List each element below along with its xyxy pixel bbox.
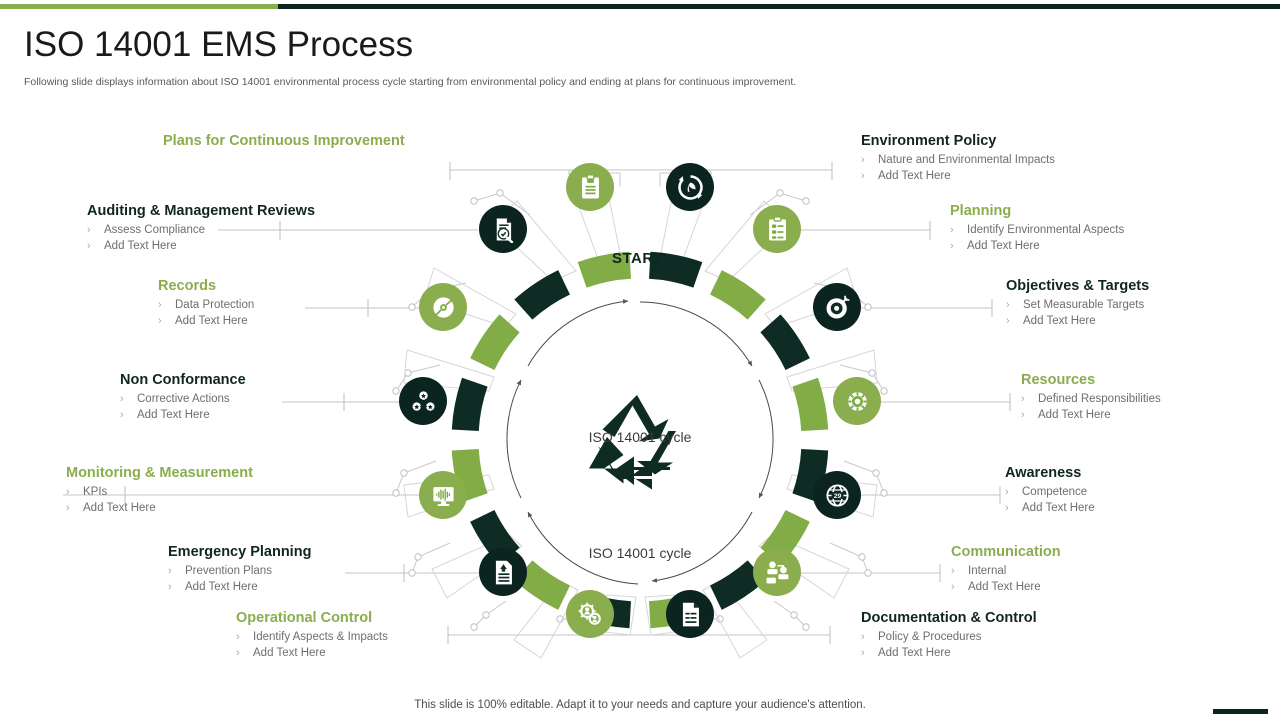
ring-segment — [482, 323, 509, 364]
top-accent-dark-segment — [278, 4, 1280, 9]
bullet-text: Policy & Procedures — [878, 631, 982, 643]
bullet-item: ›Policy & Procedures — [861, 629, 1037, 645]
bullet-item: ›Add Text Here — [120, 407, 246, 423]
step-icon-operational-control[interactable] — [566, 590, 614, 638]
step-title-objectives-targets: Objectives & Targets — [1006, 278, 1149, 295]
ring-segment — [523, 570, 564, 597]
chevron-right-icon: › — [168, 579, 172, 595]
emergency-document-icon — [490, 559, 517, 586]
bullet-text: Identify Aspects & Impacts — [253, 631, 388, 643]
bullet-item: ›Add Text Here — [1021, 407, 1161, 423]
step-block-plans-continuous-improvement: Plans for Continuous Improvement — [163, 133, 405, 152]
step-block-emergency-planning: Emergency Planning›Prevention Plans›Add … — [168, 544, 311, 595]
chevron-right-icon: › — [861, 152, 865, 168]
monitor-wave-icon — [430, 482, 457, 509]
bullet-text: Defined Responsibilities — [1038, 393, 1161, 405]
bullet-text: Add Text Here — [175, 315, 248, 327]
page-subtitle: Following slide displays information abo… — [24, 76, 796, 88]
step-title-plans-continuous-improvement: Plans for Continuous Improvement — [163, 133, 405, 150]
chevron-right-icon: › — [951, 579, 955, 595]
ring-caption-bottom: ISO 14001 cycle — [490, 545, 790, 561]
step-title-awareness: Awareness — [1005, 465, 1095, 482]
ring-segment — [716, 282, 757, 309]
chevron-right-icon: › — [1006, 297, 1010, 313]
step-title-monitoring-measurement: Monitoring & Measurement — [66, 465, 253, 482]
chevron-right-icon: › — [950, 238, 954, 254]
step-icon-records[interactable] — [419, 283, 467, 331]
bullet-item: ›Add Text Here — [66, 500, 253, 516]
step-title-planning: Planning — [950, 203, 1124, 220]
bullet-item: ›Add Text Here — [950, 238, 1124, 254]
bullet-text: Identify Environmental Aspects — [967, 224, 1124, 236]
footer-note: This slide is 100% editable. Adapt it to… — [0, 699, 1280, 711]
bullet-item: ›Add Text Here — [236, 645, 388, 661]
bullet-text: Assess Compliance — [104, 224, 205, 236]
step-bullets-documentation-control: ›Policy & Procedures›Add Text Here — [861, 629, 1037, 661]
chevron-right-icon: › — [120, 407, 124, 423]
bullet-text: Add Text Here — [878, 170, 951, 182]
chevron-right-icon: › — [1021, 407, 1025, 423]
bullet-text: Add Text Here — [253, 647, 326, 659]
chevron-right-icon: › — [158, 313, 162, 329]
chevron-right-icon: › — [951, 563, 955, 579]
clipboard-check-icon — [577, 174, 604, 201]
chevron-right-icon: › — [158, 297, 162, 313]
ring-segment — [523, 282, 564, 309]
bullet-item: ›Internal — [951, 563, 1061, 579]
bullet-item: ›KPIs — [66, 484, 253, 500]
step-icon-resources[interactable] — [833, 377, 881, 425]
chevron-right-icon: › — [861, 645, 865, 661]
step-title-environment-policy: Environment Policy — [861, 133, 1055, 150]
start-label: START — [612, 250, 663, 267]
bullet-item: ›Add Text Here — [861, 168, 1055, 184]
bullet-item: ›Data Protection — [158, 297, 254, 313]
chevron-right-icon: › — [236, 629, 240, 645]
step-title-operational-control: Operational Control — [236, 610, 388, 627]
top-accent-green-segment — [0, 4, 278, 9]
bullet-item: ›Nature and Environmental Impacts — [861, 152, 1055, 168]
bullet-text: Add Text Here — [185, 581, 258, 593]
chevron-right-icon: › — [236, 645, 240, 661]
bullet-text: Add Text Here — [1038, 409, 1111, 421]
chevron-right-icon: › — [87, 238, 91, 254]
step-icon-documentation-control[interactable] — [666, 590, 714, 638]
nodes-icon — [410, 388, 437, 415]
target-icon — [824, 294, 851, 321]
bullet-text: Data Protection — [175, 299, 254, 311]
step-title-non-conformance: Non Conformance — [120, 372, 246, 389]
svg-text:29: 29 — [833, 493, 841, 500]
chevron-right-icon: › — [950, 222, 954, 238]
bullet-item: ›Add Text Here — [87, 238, 315, 254]
step-bullets-environment-policy: ›Nature and Environmental Impacts›Add Te… — [861, 152, 1055, 184]
step-title-documentation-control: Documentation & Control — [861, 610, 1037, 627]
recycle-leaf-icon — [677, 174, 704, 201]
bullet-item: ›Add Text Here — [951, 579, 1061, 595]
bullet-text: Prevention Plans — [185, 565, 272, 577]
step-bullets-planning: ›Identify Environmental Aspects›Add Text… — [950, 222, 1124, 254]
disc-icon — [430, 294, 457, 321]
chevron-right-icon: › — [861, 168, 865, 184]
bullet-text: Add Text Here — [1022, 502, 1095, 514]
step-bullets-records: ›Data Protection›Add Text Here — [158, 297, 254, 329]
bullet-item: ›Add Text Here — [168, 579, 311, 595]
step-block-non-conformance: Non Conformance›Corrective Actions›Add T… — [120, 372, 246, 423]
bullet-item: ›Corrective Actions — [120, 391, 246, 407]
step-icon-non-conformance[interactable] — [399, 377, 447, 425]
chevron-right-icon: › — [87, 222, 91, 238]
step-block-environment-policy: Environment Policy›Nature and Environmen… — [861, 133, 1055, 184]
bullet-text: Add Text Here — [878, 647, 951, 659]
step-bullets-non-conformance: ›Corrective Actions›Add Text Here — [120, 391, 246, 423]
step-block-communication: Communication›Internal›Add Text Here — [951, 544, 1061, 595]
chevron-right-icon: › — [168, 563, 172, 579]
step-icon-awareness[interactable]: 29 — [813, 471, 861, 519]
step-icon-monitoring-measurement[interactable] — [419, 471, 467, 519]
bullet-item: ›Add Text Here — [1006, 313, 1149, 329]
bullet-text: KPIs — [83, 486, 107, 498]
chevron-right-icon: › — [861, 629, 865, 645]
chevron-right-icon: › — [66, 484, 70, 500]
step-icon-environment-policy[interactable] — [666, 163, 714, 211]
step-block-awareness: Awareness›Competence›Add Text Here — [1005, 465, 1095, 516]
bullet-item: ›Competence — [1005, 484, 1095, 500]
bullet-text: Add Text Here — [967, 240, 1040, 252]
bullet-text: Corrective Actions — [137, 393, 230, 405]
step-block-records: Records›Data Protection›Add Text Here — [158, 278, 254, 329]
gears-people-icon — [577, 601, 604, 628]
step-bullets-monitoring-measurement: ›KPIs›Add Text Here — [66, 484, 253, 516]
chevron-right-icon: › — [66, 500, 70, 516]
bullet-item: ›Add Text Here — [158, 313, 254, 329]
footer-accent-bar — [1213, 709, 1268, 714]
bullet-item: ›Add Text Here — [1005, 500, 1095, 516]
bullet-text: Competence — [1022, 486, 1087, 498]
step-bullets-resources: ›Defined Responsibilities›Add Text Here — [1021, 391, 1161, 423]
bullet-item: ›Identify Environmental Aspects — [950, 222, 1124, 238]
document-icon — [677, 601, 704, 628]
bullet-item: ›Assess Compliance — [87, 222, 315, 238]
step-block-resources: Resources›Defined Responsibilities›Add T… — [1021, 372, 1161, 423]
step-bullets-communication: ›Internal›Add Text Here — [951, 563, 1061, 595]
ring-caption-top: ISO 14001 cycle — [490, 429, 790, 445]
bullet-item: ›Defined Responsibilities — [1021, 391, 1161, 407]
clipboard-list-icon — [764, 216, 791, 243]
chevron-right-icon: › — [1005, 500, 1009, 516]
bullet-text: Add Text Here — [968, 581, 1041, 593]
step-block-objectives-targets: Objectives & Targets›Set Measurable Targ… — [1006, 278, 1149, 329]
chevron-right-icon: › — [1021, 391, 1025, 407]
ring-segment — [716, 570, 757, 597]
bullet-text: Set Measurable Targets — [1023, 299, 1144, 311]
step-title-emergency-planning: Emergency Planning — [168, 544, 311, 561]
bullet-item: ›Identify Aspects & Impacts — [236, 629, 388, 645]
ems-process-diagram: 29 START ISO 14001 cycle ISO 14001 cycle… — [0, 95, 1280, 675]
chevron-right-icon: › — [120, 391, 124, 407]
ring-segment — [770, 323, 797, 364]
bullet-text: Add Text Here — [104, 240, 177, 252]
step-bullets-awareness: ›Competence›Add Text Here — [1005, 484, 1095, 516]
bullet-text: Nature and Environmental Impacts — [878, 154, 1055, 166]
step-block-monitoring-measurement: Monitoring & Measurement›KPIs›Add Text H… — [66, 465, 253, 516]
step-bullets-operational-control: ›Identify Aspects & Impacts›Add Text Her… — [236, 629, 388, 661]
step-block-planning: Planning›Identify Environmental Aspects›… — [950, 203, 1124, 254]
bullet-item: ›Prevention Plans — [168, 563, 311, 579]
step-icon-plans-continuous-improvement[interactable] — [566, 163, 614, 211]
chevron-right-icon: › — [1006, 313, 1010, 329]
step-block-documentation-control: Documentation & Control›Policy & Procedu… — [861, 610, 1037, 661]
bullet-text: Add Text Here — [83, 502, 156, 514]
page-title: ISO 14001 EMS Process — [24, 25, 413, 65]
step-title-communication: Communication — [951, 544, 1061, 561]
step-block-operational-control: Operational Control›Identify Aspects & I… — [236, 610, 388, 661]
step-bullets-emergency-planning: ›Prevention Plans›Add Text Here — [168, 563, 311, 595]
bullet-item: ›Add Text Here — [861, 645, 1037, 661]
step-bullets-auditing-management-reviews: ›Assess Compliance›Add Text Here — [87, 222, 315, 254]
tree-network-icon — [844, 388, 871, 415]
step-title-records: Records — [158, 278, 254, 295]
top-accent-bar — [0, 4, 1280, 9]
step-icon-planning[interactable] — [753, 205, 801, 253]
ring-segment — [465, 382, 475, 430]
bullet-text: Add Text Here — [137, 409, 210, 421]
bullet-item: ›Set Measurable Targets — [1006, 297, 1149, 313]
people-chart-icon — [764, 559, 791, 586]
step-icon-auditing-management-reviews[interactable] — [479, 205, 527, 253]
ring-segment — [805, 382, 815, 430]
step-icon-objectives-targets[interactable] — [813, 283, 861, 331]
step-bullets-objectives-targets: ›Set Measurable Targets›Add Text Here — [1006, 297, 1149, 329]
chevron-right-icon: › — [1005, 484, 1009, 500]
step-title-resources: Resources — [1021, 372, 1161, 389]
globe-icon: 29 — [824, 482, 851, 509]
bullet-text: Add Text Here — [1023, 315, 1096, 327]
audit-search-icon — [490, 216, 517, 243]
step-block-auditing-management-reviews: Auditing & Management Reviews›Assess Com… — [87, 203, 315, 254]
bullet-text: Internal — [968, 565, 1006, 577]
step-title-auditing-management-reviews: Auditing & Management Reviews — [87, 203, 315, 220]
